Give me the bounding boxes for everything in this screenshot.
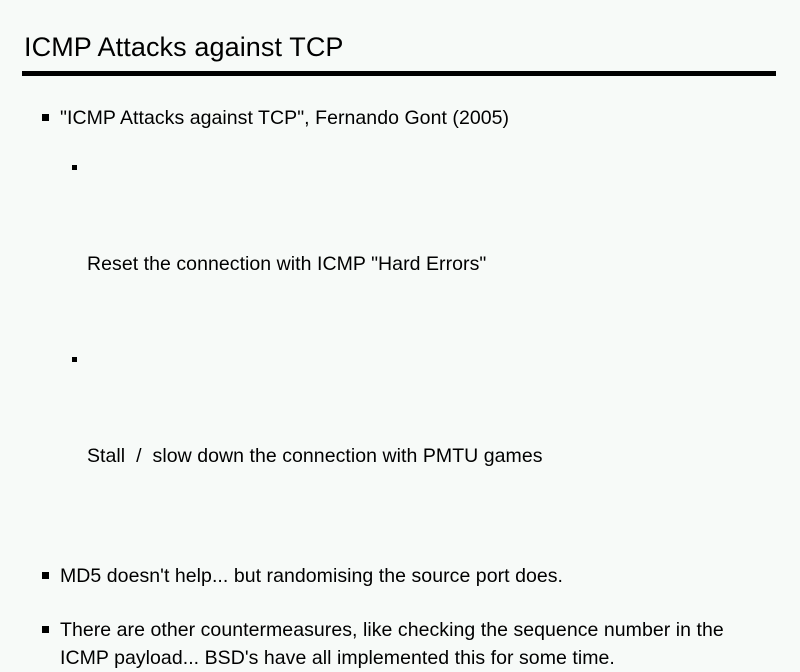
small-square-bullet-icon [72,165,77,170]
spacer [0,590,800,616]
list-item: There are other countermeasures, like ch… [0,616,800,672]
slide-title-block: ICMP Attacks against TCP [22,30,776,76]
list-item-label: Stall / slow down the connection with PM… [87,440,740,472]
page-title: ICMP Attacks against TCP [22,30,776,64]
list-item-label: MD5 doesn't help... but randomising the … [60,562,740,590]
list-item: Stall / slow down the connection with PM… [0,344,800,536]
spacer [0,536,800,562]
square-bullet-icon [42,114,49,121]
list-item-label: There are other countermeasures, like ch… [60,616,740,672]
list-item-label: "ICMP Attacks against TCP", Fernando Gon… [60,104,740,132]
list-item: MD5 doesn't help... but randomising the … [0,562,800,590]
square-bullet-icon [42,572,49,579]
square-bullet-icon [42,626,49,633]
presentation-slide: ICMP Attacks against TCP "ICMP Attacks a… [0,0,800,600]
small-square-bullet-icon [72,357,77,362]
slide-body: "ICMP Attacks against TCP", Fernando Gon… [0,104,800,672]
title-divider [22,71,776,76]
list-item: Reset the connection with ICMP "Hard Err… [0,152,800,344]
list-item-label: Reset the connection with ICMP "Hard Err… [87,248,740,280]
nested-list: Reset the connection with ICMP "Hard Err… [0,152,800,536]
list-item: "ICMP Attacks against TCP", Fernando Gon… [0,104,800,132]
